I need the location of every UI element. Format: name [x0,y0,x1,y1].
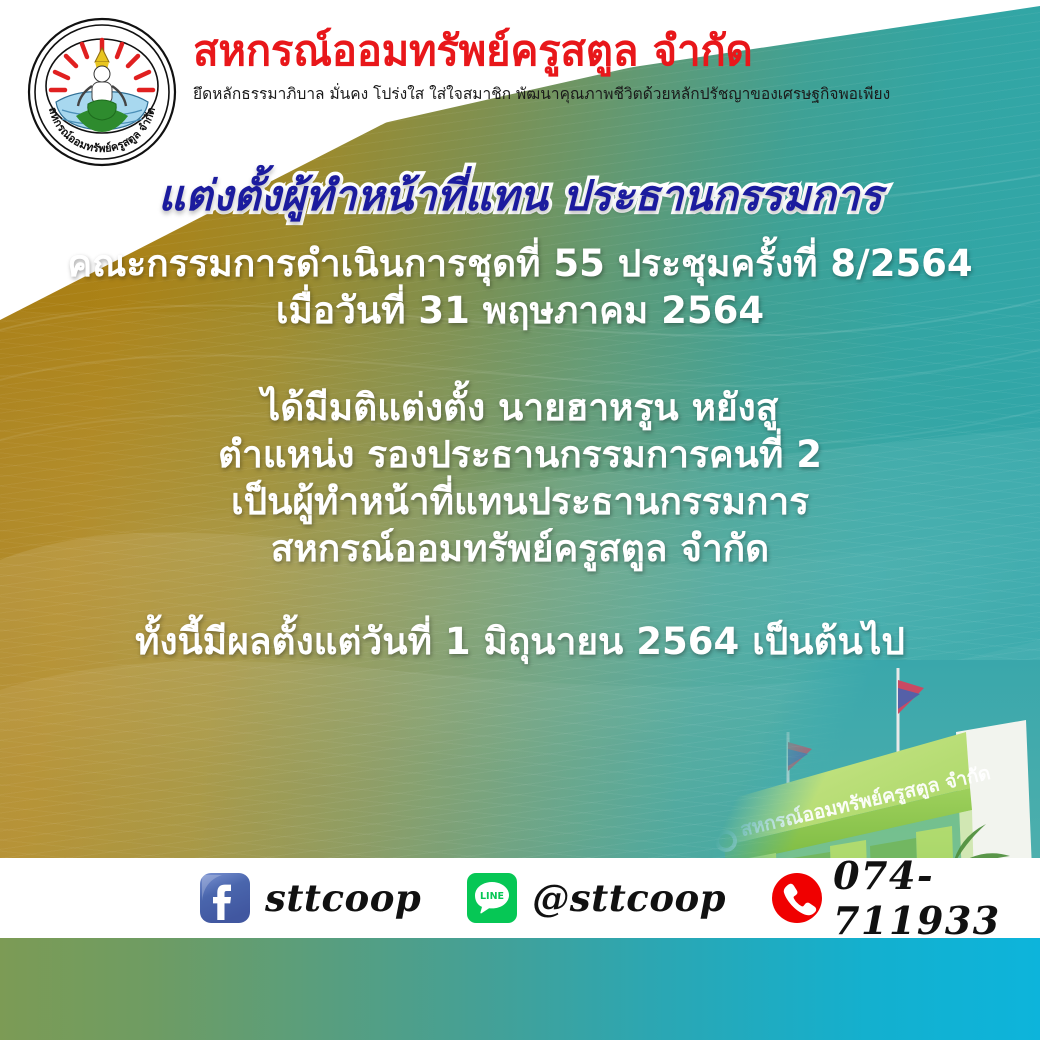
meeting-line-2: เมื่อวันที่ 31 พฤษภาคม 2564 [0,287,1040,334]
brand-block: สหกรณ์ออมทรัพย์ครูสตูล จำกัด ยึดหลักธรรม… [193,26,890,105]
meeting-line-1: คณะกรรมการดำเนินการชุดที่ 55 ประชุมครั้ง… [0,240,1040,287]
announcement-headline-row: แต่งตั้งผู้ทำหน้าที่แทน ประธานกรรมการ [0,168,1040,224]
body-spacer-1 [0,334,1040,384]
body-line-3: เป็นผู้ทำหน้าที่แทนประธานกรรมการ [0,478,1040,525]
brand-subtitle: ยึดหลักธรรมาภิบาล มั่นคง โปร่งใส ใส่ใจสม… [193,83,890,105]
contact-phone[interactable]: 074-711933 [770,853,1040,943]
phone-icon[interactable] [770,871,824,925]
facebook-label: sttcoop [265,876,421,920]
body-spacer-2 [0,572,1040,618]
footer-contact-row: sttcoop LINE @sttcoop 074-711933 [0,858,1040,938]
contact-facebook[interactable]: sttcoop [198,871,421,925]
line-icon[interactable]: LINE [465,871,519,925]
phone-label: 074-711933 [833,853,1040,943]
contact-line[interactable]: LINE @sttcoop [465,871,726,925]
body-line-4: สหกรณ์ออมทรัพย์ครูสตูล จำกัด [0,525,1040,572]
body-line-1: ได้มีมติแต่งตั้ง นายฮาหรูน หยังสู [0,384,1040,431]
facebook-icon[interactable] [198,871,252,925]
body-line-2: ตำแหน่ง รองประธานกรรมการคนที่ 2 [0,431,1040,478]
line-label: @sttcoop [532,876,726,920]
announcement-body: คณะกรรมการดำเนินการชุดที่ 55 ประชุมครั้ง… [0,240,1040,665]
cooperative-seal-logo: สหกรณ์ออมทรัพย์ครูสตูล จำกัด [26,16,178,168]
poster-canvas: สหกรณ์ออมทรัพย์ครูสตูล จำกัด [0,0,1040,1040]
announcement-headline: แต่งตั้งผู้ทำหน้าที่แทน ประธานกรรมการ [158,168,882,224]
line-icon-text: LINE [480,891,504,902]
seal-icon: สหกรณ์ออมทรัพย์ครูสตูล จำกัด [26,16,178,168]
footer-gradient-bar [0,938,1040,1040]
effective-date-line: ทั้งนี้มีผลตั้งแต่วันที่ 1 มิถุนายน 2564… [0,618,1040,665]
brand-title: สหกรณ์ออมทรัพย์ครูสตูล จำกัด [193,26,890,76]
